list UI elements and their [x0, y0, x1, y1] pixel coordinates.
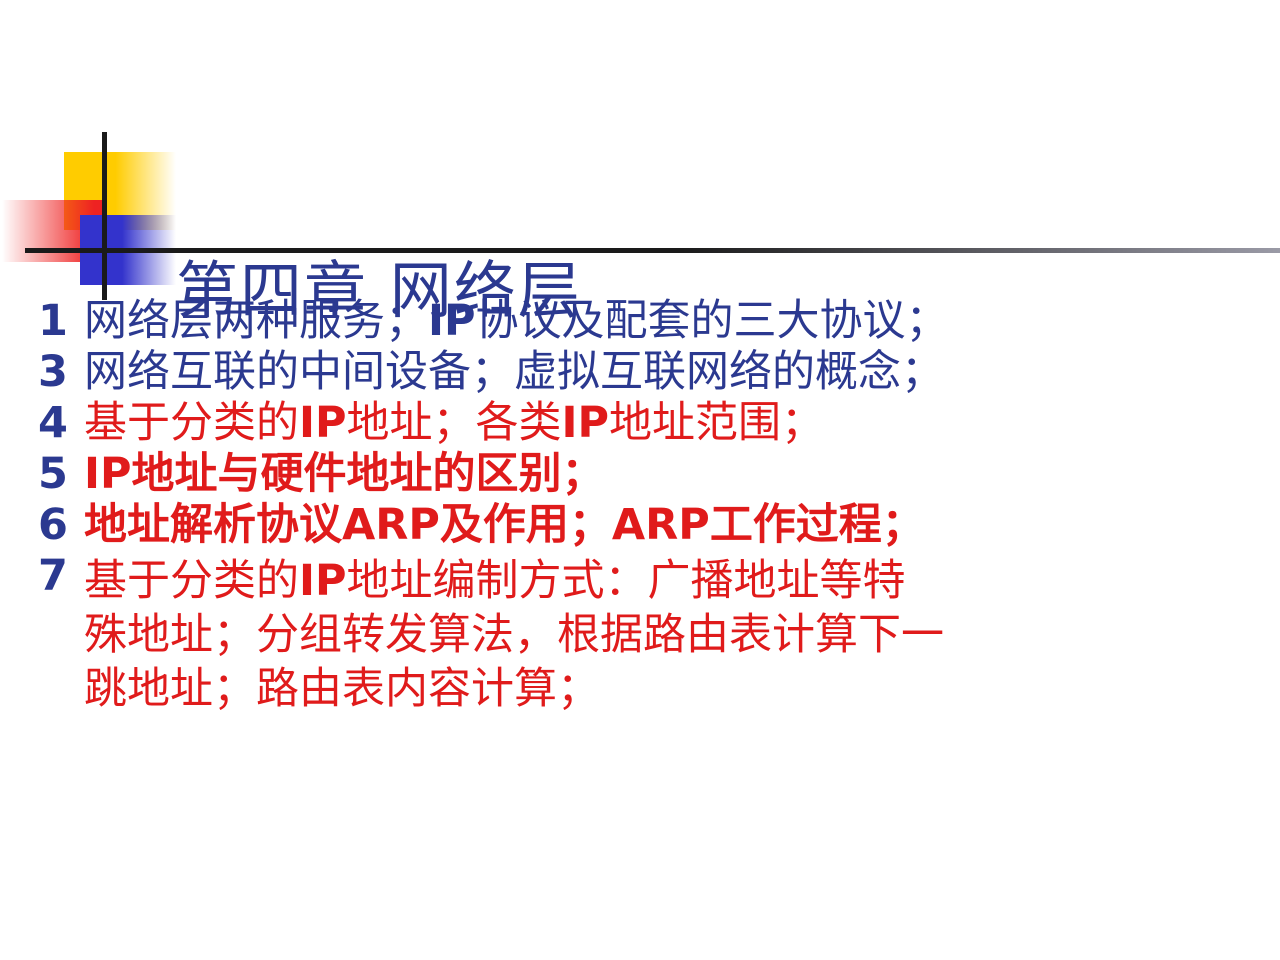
list-item-text: 地址解析协议ARP及作用；ARP工作过程；	[84, 504, 1270, 547]
cjk-run: 地址解析协议	[84, 500, 342, 550]
latin-run: ARP	[342, 500, 440, 550]
list-item: 5IP地址与硬件地址的区别；	[0, 453, 1280, 496]
title-block: 第四章 网络层	[0, 118, 1280, 308]
cjk-run: 及作用；	[440, 500, 612, 550]
list-item: 6地址解析协议ARP及作用；ARP工作过程；	[0, 504, 1280, 547]
latin-run: IP	[299, 398, 347, 448]
latin-run: IP	[299, 556, 347, 606]
cjk-run: 网络层两种服务；	[84, 296, 428, 346]
list-item-text: 基于分类的IP地址；各类IP地址范围；	[84, 402, 1270, 445]
cjk-run: 地址范围；	[609, 398, 824, 448]
cjk-run: 协议及配套的三大协议；	[476, 296, 949, 346]
latin-run: ARP	[612, 500, 710, 550]
cjk-run: 基于分类的	[84, 398, 299, 448]
list-item: 1网络层两种服务；IP协议及配套的三大协议；	[0, 300, 1280, 343]
horizontal-rule	[25, 248, 1280, 253]
cjk-run: 殊地址；分组转发算法，根据路由表计算下一	[84, 610, 944, 660]
latin-run: IP	[428, 296, 476, 346]
vertical-rule	[102, 132, 107, 300]
list-item-line: 跳地址；路由表内容计算；	[84, 663, 1270, 717]
cjk-run: 跳地址；路由表内容计算；	[84, 664, 600, 714]
cjk-run: 地址编制方式：广播地址等特	[347, 556, 906, 606]
cjk-run: 地址与硬件地址的区别；	[132, 449, 605, 499]
list-item-text: 网络互联的中间设备；虚拟互联网络的概念；	[84, 351, 1270, 394]
cjk-run: 网络互联的中间设备；虚拟互联网络的概念；	[84, 347, 944, 397]
latin-run: IP	[562, 398, 610, 448]
list-item-number: 7	[38, 555, 84, 598]
list-item-line: 地址解析协议ARP及作用；ARP工作过程；	[84, 504, 1270, 547]
list-item-line: 基于分类的IP地址编制方式：广播地址等特	[84, 555, 1270, 609]
list-item-line: 网络层两种服务；IP协议及配套的三大协议；	[84, 300, 1270, 343]
list-item-text: 基于分类的IP地址编制方式：广播地址等特殊地址；分组转发算法，根据路由表计算下一…	[84, 555, 1270, 716]
content-list: 1网络层两种服务；IP协议及配套的三大协议；3网络互联的中间设备；虚拟互联网络的…	[0, 300, 1280, 724]
list-item-number: 1	[38, 300, 84, 343]
list-item-line: 基于分类的IP地址；各类IP地址范围；	[84, 402, 1270, 445]
list-item: 3网络互联的中间设备；虚拟互联网络的概念；	[0, 351, 1280, 394]
list-item-text: 网络层两种服务；IP协议及配套的三大协议；	[84, 300, 1270, 343]
list-item-line: IP地址与硬件地址的区别；	[84, 453, 1270, 496]
list-item-line: 网络互联的中间设备；虚拟互联网络的概念；	[84, 351, 1270, 394]
list-item-number: 4	[38, 402, 84, 445]
list-item-number: 5	[38, 453, 84, 496]
latin-run: IP	[84, 449, 132, 499]
cjk-run: 地址；各类	[347, 398, 562, 448]
list-item-number: 6	[38, 504, 84, 547]
slide-canvas: 第四章 网络层 1网络层两种服务；IP协议及配套的三大协议；3网络互联的中间设备…	[0, 0, 1280, 960]
list-item-number: 3	[38, 351, 84, 394]
list-item: 7基于分类的IP地址编制方式：广播地址等特殊地址；分组转发算法，根据路由表计算下…	[0, 555, 1280, 716]
list-item-line: 殊地址；分组转发算法，根据路由表计算下一	[84, 609, 1270, 663]
cjk-run: 基于分类的	[84, 556, 299, 606]
cjk-run: 工作过程；	[710, 500, 925, 550]
list-item: 4基于分类的IP地址；各类IP地址范围；	[0, 402, 1280, 445]
list-item-text: IP地址与硬件地址的区别；	[84, 453, 1270, 496]
